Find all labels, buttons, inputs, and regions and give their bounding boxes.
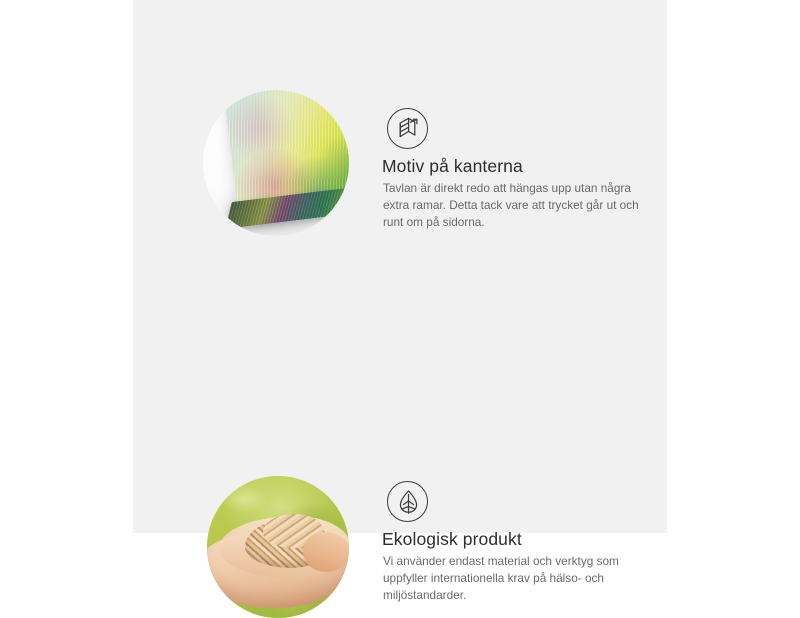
canvas-photo-backdrop (203, 90, 349, 236)
content-panel: Motiv på kanterna Tavlan är direkt redo … (133, 0, 667, 533)
product-feature-banner: Motiv på kanterna Tavlan är direkt redo … (0, 0, 800, 533)
feature-heading: Ekologisk produkt (382, 529, 522, 550)
eco-photo-backdrop (207, 476, 349, 618)
hand-fingers (303, 532, 349, 572)
feature-description: Vi använder endast material och verktyg … (383, 553, 649, 605)
feature-heading: Motiv på kanterna (382, 156, 523, 177)
canvas-print-corner-photo (203, 90, 349, 236)
feature-description: Tavlan är direkt redo att hängas upp uta… (383, 180, 649, 232)
hands-holding-wood-chips-photo (207, 476, 349, 618)
leaf-icon (387, 481, 428, 522)
canvas-wrap-edge-icon (387, 108, 428, 149)
